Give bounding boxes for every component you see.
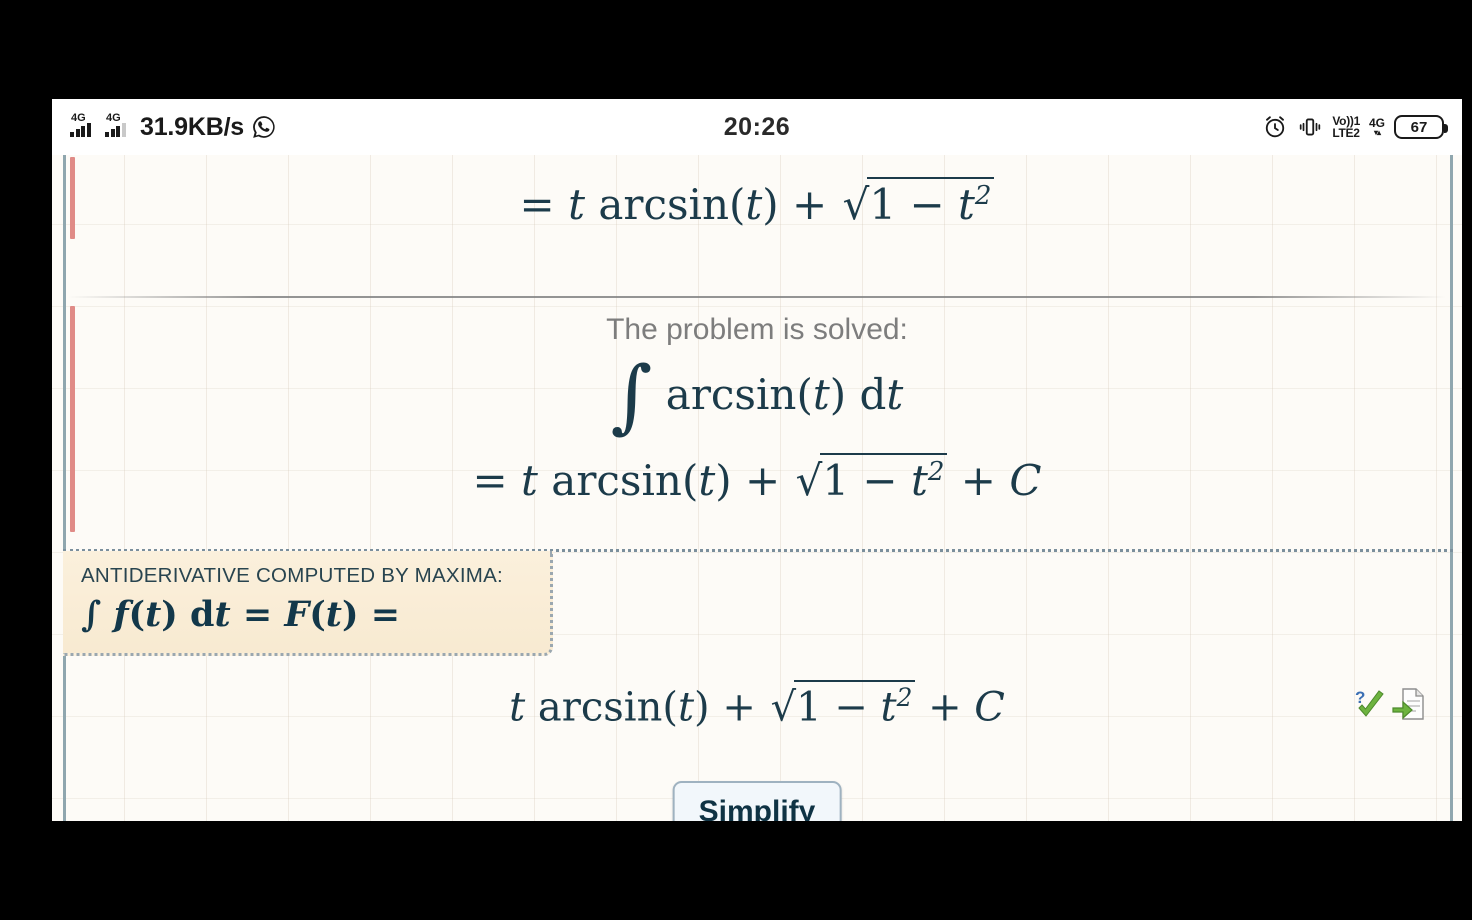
maxima-paren-close-2: ) — [342, 594, 359, 635]
radicand-one: 1 — [869, 180, 896, 229]
maxima-equals-2: = — [371, 594, 400, 635]
radical-sign: √ — [843, 180, 870, 229]
integral-arcsin-close: ) — [830, 370, 846, 419]
signal-strength-sim1-icon: 4G — [70, 115, 98, 139]
final-minus-sign: − — [862, 456, 897, 505]
signal-strength-sim2-icon: 4G — [105, 115, 133, 139]
volte-line-2: LTE2 — [1332, 126, 1359, 140]
equals-sign: = — [520, 180, 555, 229]
maxima-formula: ∫ f(t) dt = F(t) = — [81, 594, 550, 635]
arcsin-close: ) — [762, 180, 778, 229]
battery-icon: 67 — [1394, 115, 1444, 139]
final-radical-sign: √ — [796, 456, 823, 505]
maxima-integral-sign: ∫ — [81, 594, 101, 635]
mobile-data-indicator: 4G ▾▴ — [1369, 117, 1385, 137]
question-check-icon[interactable]: ? — [1351, 686, 1387, 722]
maxima-t-symbol-2: t — [326, 594, 342, 635]
integration-constant: C — [1009, 456, 1041, 505]
maxima-t-symbol: t — [145, 594, 161, 635]
differential-variable: t — [886, 370, 903, 419]
integral-arcsin-argument: t — [813, 370, 830, 419]
radicand: 1 − t2 — [867, 177, 994, 229]
answer-radical-sign: √ — [771, 684, 797, 730]
final-arcsin-argument: t — [698, 456, 715, 505]
answer-radicand-one: 1 — [796, 684, 821, 730]
worksheet-canvas[interactable]: = t arcsin(t) + √1 − t2 The problem is s… — [52, 155, 1462, 821]
maxima-caption: ANTIDERIVATIVE COMPUTED BY MAXIMA: — [81, 564, 550, 588]
final-radicand-exponent: 2 — [928, 457, 945, 487]
status-bar-left: 4G 4G 31.9KB/s — [70, 113, 277, 142]
vibrate-icon — [1297, 114, 1323, 140]
answer-arcsin-argument: t — [678, 684, 694, 730]
differential-d: d — [859, 370, 886, 419]
answer-cell[interactable]: t arcsin(t) + √1 − t2 + C ? — [52, 680, 1462, 754]
radicand-variable: t — [958, 180, 975, 229]
status-bar-right: Vo))1 LTE2 4G ▾▴ 67 — [1262, 114, 1444, 140]
plus-sign: + — [792, 180, 827, 229]
solution-cell[interactable]: The problem is solved: ∫ arcsin(t) dt = … — [52, 313, 1462, 505]
radicand-exponent: 2 — [975, 181, 992, 211]
answer-expression: t arcsin(t) + √1 − t2 + C — [52, 680, 1462, 730]
step-result-expression: = t arcsin(t) + √1 − t2 — [52, 177, 1462, 229]
maxima-label-box[interactable]: ANTIDERIVATIVE COMPUTED BY MAXIMA: ∫ f(t… — [63, 551, 553, 656]
maxima-paren-close: ) — [161, 594, 178, 635]
maxima-paren-open: ( — [129, 594, 146, 635]
final-plus-sign: + — [745, 456, 780, 505]
status-bar: 4G 4G 31.9KB/s 20:26 — [52, 99, 1462, 155]
answer-minus-sign: − — [834, 684, 868, 730]
section-divider — [68, 296, 1446, 298]
maxima-differential-d: d — [190, 594, 214, 635]
step-result-cell[interactable]: = t arcsin(t) + √1 − t2 — [52, 177, 1462, 229]
battery-percent-text: 67 — [1411, 119, 1428, 136]
answer-square-root-group: √1 − t2 — [769, 680, 916, 730]
whatsapp-icon — [251, 114, 277, 140]
answer-radicand: 1 − t2 — [794, 680, 915, 730]
volte-indicator: Vo))1 LTE2 — [1332, 115, 1360, 139]
integral-arcsin-open: arcsin( — [666, 370, 813, 419]
problem-solved-label: The problem is solved: — [52, 313, 1462, 347]
final-square-root-group: √1 − t2 — [794, 453, 948, 505]
final-radicand-variable: t — [911, 456, 928, 505]
svg-text:?: ? — [1355, 688, 1365, 707]
answer-variable-t: t — [509, 684, 525, 730]
answer-action-icons[interactable]: ? — [1351, 686, 1427, 722]
simplify-button[interactable]: Simplify — [673, 781, 842, 821]
final-plus-constant-sign: + — [961, 456, 996, 505]
clock-text: 20:26 — [724, 113, 790, 142]
final-equals-sign: = — [472, 456, 507, 505]
answer-plus-constant-sign: + — [928, 684, 962, 730]
arcsin-open: arcsin( — [598, 180, 745, 229]
answer-arcsin-open: arcsin( — [538, 684, 678, 730]
network-speed-text: 31.9KB/s — [140, 113, 244, 142]
final-arcsin-close: ) — [715, 456, 731, 505]
answer-arcsin-close: ) — [694, 684, 710, 730]
answer-integration-constant: C — [974, 684, 1005, 730]
final-result-expression: = t arcsin(t) + √1 − t2 + C — [52, 453, 1462, 505]
minus-sign: − — [909, 180, 944, 229]
answer-radicand-exponent: 2 — [897, 683, 913, 712]
answer-plus-sign: + — [722, 684, 756, 730]
integral-expression: ∫ arcsin(t) dt — [52, 370, 1462, 419]
data-transfer-arrows-icon: ▾▴ — [1369, 129, 1385, 137]
phone-screen: 4G 4G 31.9KB/s 20:26 — [52, 99, 1462, 821]
maxima-f-symbol: f — [113, 594, 128, 635]
final-arcsin-open: arcsin( — [551, 456, 698, 505]
maxima-differential-variable: t — [215, 594, 231, 635]
variable-t: t — [568, 180, 585, 229]
maxima-paren-open-2: ( — [309, 594, 326, 635]
final-radicand-one: 1 — [822, 456, 849, 505]
final-radicand: 1 − t2 — [820, 453, 947, 505]
final-variable-t: t — [521, 456, 538, 505]
alarm-icon — [1262, 114, 1288, 140]
arcsin-argument: t — [745, 180, 762, 229]
maxima-F-symbol: F — [284, 594, 309, 635]
maxima-equals-1: = — [243, 594, 272, 635]
export-document-icon[interactable] — [1391, 686, 1427, 722]
square-root-group: √1 − t2 — [841, 177, 995, 229]
answer-radicand-variable: t — [880, 684, 896, 730]
integral-sign: ∫ — [611, 349, 653, 442]
